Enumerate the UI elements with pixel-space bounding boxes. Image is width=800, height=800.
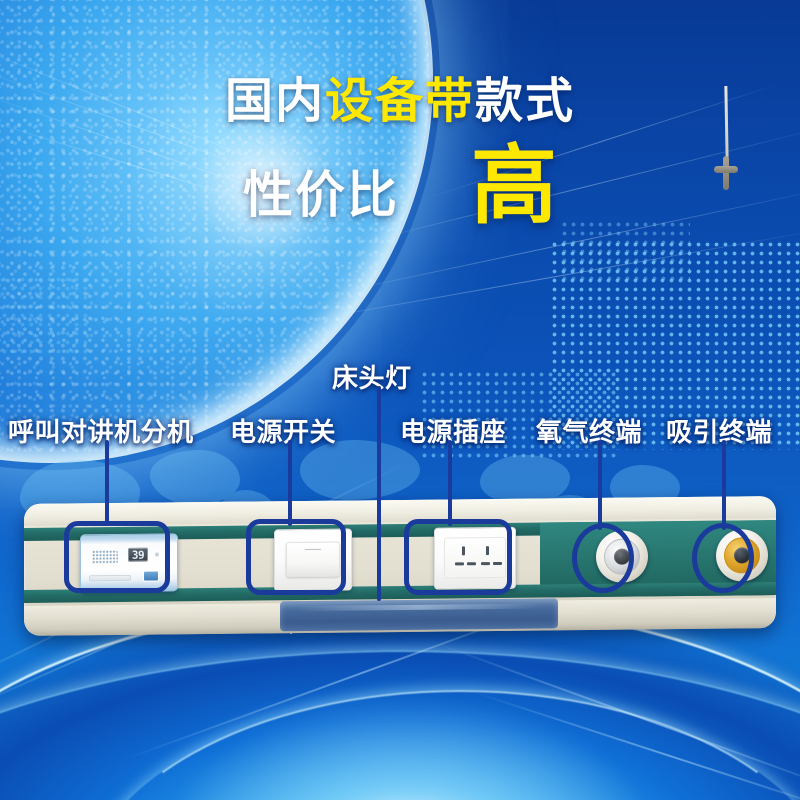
callout-leader-line-3: [377, 386, 381, 601]
callout-label-3: 床头灯: [332, 358, 412, 395]
callout-label-4: 电源插座: [400, 412, 506, 449]
callout-leader-line-2: [288, 440, 292, 526]
callout-label-2: 电源开关: [230, 412, 336, 449]
highlight-suction: [692, 523, 754, 593]
callout-label-1: 呼叫对讲机分机: [8, 412, 194, 449]
callout-leader-line-5: [598, 440, 602, 530]
callout-layer: 呼叫对讲机分机电源开关床头灯电源插座氧气终端吸引终端: [0, 0, 800, 800]
highlight-switch: [246, 519, 346, 595]
highlight-socket: [404, 519, 512, 595]
callout-label-6: 吸引终端: [666, 412, 772, 449]
callout-leader-line-1: [105, 440, 109, 526]
callout-label-5: 氧气终端: [536, 412, 642, 449]
callout-leader-line-4: [448, 440, 452, 526]
callout-leader-line-6: [722, 440, 726, 530]
highlight-intercom: [64, 521, 170, 593]
highlight-oxygen: [572, 523, 634, 593]
